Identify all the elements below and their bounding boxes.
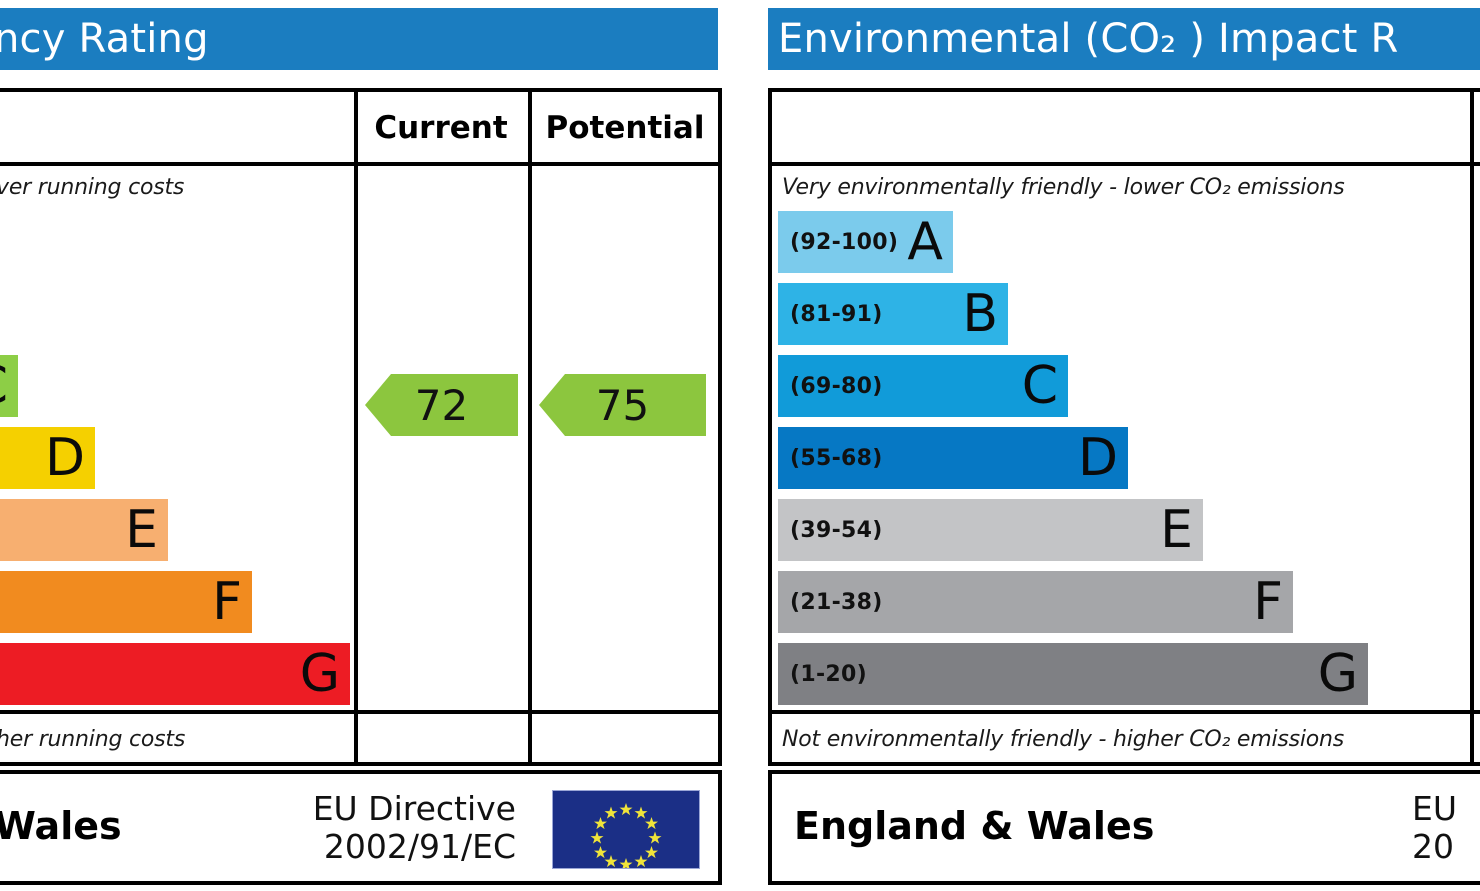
right-band-G-range: (1-20) — [778, 662, 867, 687]
right-band-F-range: (21-38) — [778, 590, 883, 615]
left-chart-column-divider-1 — [354, 92, 358, 762]
right-chart-title-bar: Environmental (CO₂ ) Impact R — [768, 8, 1480, 70]
left-chart-footer: Wales EU Directive 2002/91/EC — [0, 770, 722, 885]
right-band-A-range: (92-100) — [778, 230, 898, 255]
left-band-F-letter: F — [212, 576, 252, 628]
right-band-E-range: (39-54) — [778, 518, 883, 543]
right-footer-directive: EU 20 — [1412, 790, 1457, 866]
right-band-E: (39-54) E — [778, 499, 1203, 561]
left-band-E: E — [0, 499, 168, 561]
epc-charts-stage: ncy Rating Current Potential ver running… — [0, 0, 1480, 891]
right-band-G: (1-20) G — [778, 643, 1368, 705]
right-footer-directive-line2: 20 — [1412, 828, 1457, 866]
left-footer-region: Wales — [0, 804, 122, 848]
right-chart-title: Environmental (CO₂ ) Impact R — [778, 16, 1399, 62]
right-band-B-range: (81-91) — [778, 302, 883, 327]
right-chart-table: Very environmentally friendly - lower CO… — [768, 88, 1480, 766]
right-band-C-letter: C — [1022, 360, 1068, 412]
left-band-C-letter: C — [0, 360, 18, 412]
left-chart-top-caption: ver running costs — [0, 175, 184, 200]
right-band-C-range: (69-80) — [778, 374, 883, 399]
left-band-G-letter: G — [300, 648, 350, 700]
left-footer-directive-line1: EU Directive — [313, 790, 516, 828]
right-band-F: (21-38) F — [778, 571, 1293, 633]
right-band-B-letter: B — [962, 288, 1008, 340]
right-band-D: (55-68) D — [778, 427, 1128, 489]
right-footer-region: England & Wales — [794, 804, 1154, 848]
right-band-A-letter: A — [907, 216, 953, 268]
energy-efficiency-rating-chart: ncy Rating Current Potential ver running… — [0, 0, 730, 891]
right-chart-header-row-divider — [772, 162, 1480, 166]
left-footer-directive-line2: 2002/91/EC — [313, 828, 516, 866]
environmental-co2-impact-rating-chart: Environmental (CO₂ ) Impact R Very envir… — [768, 0, 1480, 891]
current-rating-arrow: 72 — [365, 374, 518, 436]
left-band-E-letter: E — [125, 504, 168, 556]
left-band-F: F — [0, 571, 252, 633]
left-chart-bottom-caption: her running costs — [0, 727, 185, 752]
right-chart-footer-row-divider — [772, 710, 1480, 714]
left-band-D: D — [0, 427, 95, 489]
right-band-B: (81-91) B — [778, 283, 1008, 345]
left-chart-footer-row-divider — [0, 710, 718, 714]
right-band-D-range: (55-68) — [778, 446, 883, 471]
right-chart-top-caption: Very environmentally friendly - lower CO… — [782, 175, 1344, 200]
column-header-current: Current — [354, 110, 528, 146]
right-band-C: (69-80) C — [778, 355, 1068, 417]
right-chart-footer: England & Wales EU 20 — [768, 770, 1480, 885]
left-band-C: C — [0, 355, 18, 417]
left-band-D-letter: D — [45, 432, 95, 484]
left-band-G: G — [0, 643, 350, 705]
eu-flag-icon — [552, 790, 700, 869]
left-chart-title-bar: ncy Rating — [0, 8, 718, 70]
right-band-E-letter: E — [1160, 504, 1203, 556]
potential-rating-value: 75 — [596, 381, 649, 430]
right-band-A: (92-100) A — [778, 211, 953, 273]
right-chart-column-divider-1 — [1470, 92, 1474, 762]
right-band-F-letter: F — [1253, 576, 1293, 628]
current-rating-value: 72 — [415, 381, 468, 430]
right-chart-bottom-caption: Not environmentally friendly - higher CO… — [782, 727, 1344, 752]
right-footer-directive-line1: EU — [1412, 790, 1457, 828]
right-band-G-letter: G — [1318, 648, 1368, 700]
left-chart-title: ncy Rating — [0, 8, 718, 70]
potential-rating-arrow: 75 — [539, 374, 706, 436]
column-header-potential: Potential — [528, 110, 722, 146]
left-chart-header-row-divider — [0, 162, 718, 166]
left-footer-directive: EU Directive 2002/91/EC — [313, 790, 516, 866]
left-chart-column-divider-2 — [528, 92, 532, 762]
right-band-D-letter: D — [1078, 432, 1128, 484]
left-chart-table: Current Potential ver running costs her … — [0, 88, 722, 766]
